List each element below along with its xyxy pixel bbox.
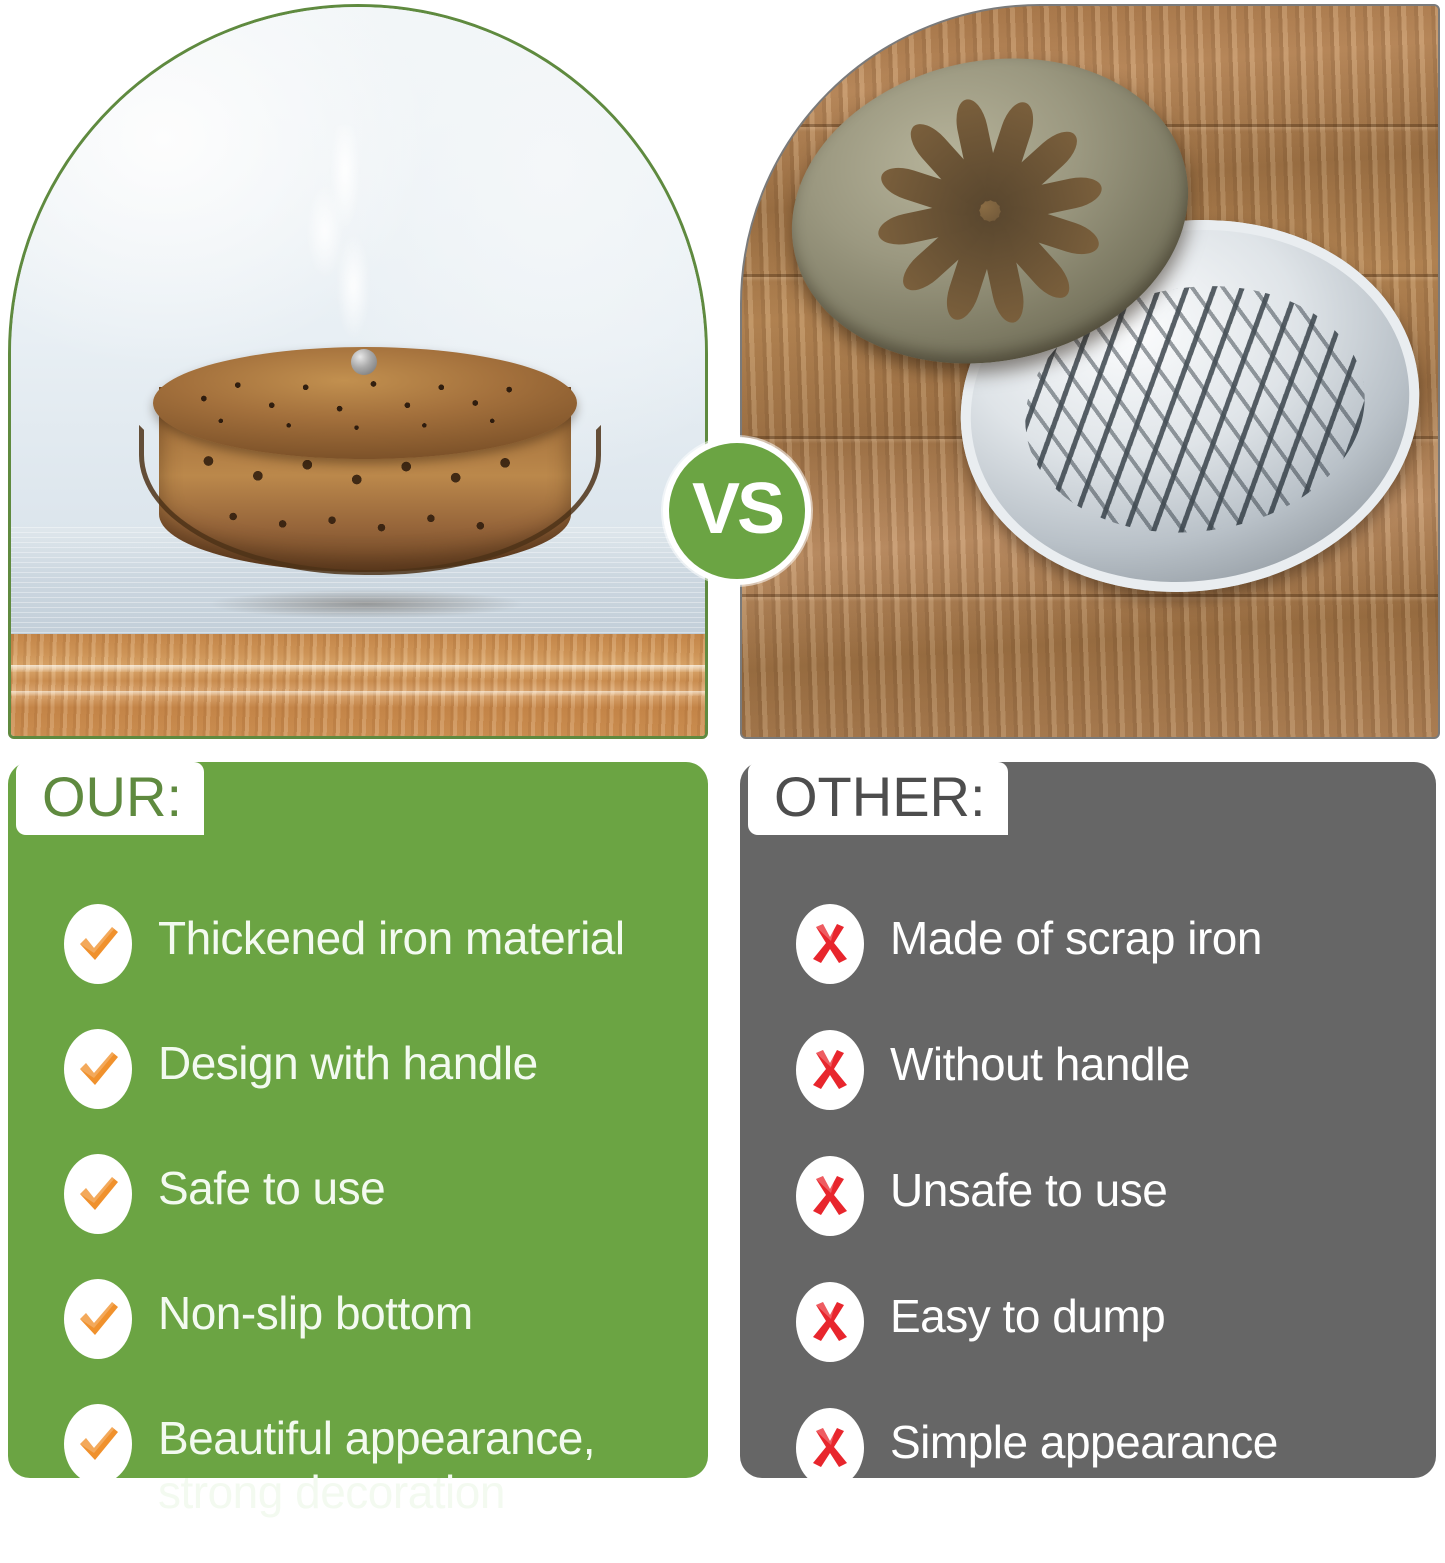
- other-panel-tag: OTHER:: [748, 762, 1008, 835]
- other-feature-item: Easy to dump: [796, 1280, 1418, 1362]
- our-panel-tag: OUR:: [16, 762, 204, 835]
- holder-shadow: [141, 583, 591, 625]
- our-product-photo: [8, 4, 708, 739]
- other-feature-item: Made of scrap iron: [796, 902, 1418, 984]
- other-feature-item-label: Without handle: [890, 1028, 1190, 1091]
- comparison-photo-row: VS: [0, 0, 1445, 745]
- our-feature-item: Non-slip bottom: [64, 1277, 690, 1359]
- other-feature-item: Unsafe to use: [796, 1154, 1418, 1236]
- other-panel: OTHER: Made of scrap ironWithout handleU…: [740, 762, 1436, 1478]
- other-feature-item-label: Simple appearance: [890, 1406, 1278, 1469]
- our-feature-item-label: Non-slip bottom: [158, 1277, 473, 1340]
- check-icon: [64, 1404, 132, 1484]
- our-feature-list: Thickened iron materialDesign with handl…: [64, 902, 690, 1563]
- our-feature-item: Design with handle: [64, 1027, 690, 1109]
- cross-icon: [796, 904, 864, 984]
- our-feature-item-label: Beautiful appearance, strong decoration: [158, 1402, 595, 1520]
- cross-icon: [796, 1156, 864, 1236]
- other-feature-item-label: Unsafe to use: [890, 1154, 1167, 1217]
- check-icon: [64, 904, 132, 984]
- vs-label: VS: [692, 473, 782, 545]
- other-feature-item-label: Easy to dump: [890, 1280, 1165, 1343]
- other-feature-list: Made of scrap ironWithout handleUnsafe t…: [796, 902, 1418, 1532]
- our-feature-item: Beautiful appearance, strong decoration: [64, 1402, 690, 1520]
- our-feature-item: Thickened iron material: [64, 902, 690, 984]
- our-feature-item-label: Thickened iron material: [158, 902, 625, 965]
- other-feature-item: Simple appearance: [796, 1406, 1418, 1488]
- cross-icon: [796, 1408, 864, 1488]
- cross-icon: [796, 1282, 864, 1362]
- wood-floor-strip: [11, 634, 705, 736]
- bronze-coil-holder: [129, 329, 599, 619]
- smoke-wisp: [279, 125, 399, 355]
- holder-knob: [351, 349, 377, 375]
- our-feature-item-label: Safe to use: [158, 1152, 385, 1215]
- check-icon: [64, 1279, 132, 1359]
- other-feature-item-label: Made of scrap iron: [890, 902, 1262, 965]
- our-feature-item: Safe to use: [64, 1152, 690, 1234]
- vs-badge: VS: [663, 437, 811, 585]
- our-panel: OUR: Thickened iron materialDesign with …: [8, 762, 708, 1478]
- other-feature-item: Without handle: [796, 1028, 1418, 1110]
- our-panel-tag-label: OUR:: [42, 768, 182, 827]
- other-product-photo: [740, 4, 1440, 739]
- our-feature-item-label: Design with handle: [158, 1027, 538, 1090]
- wood-grain-line: [742, 594, 1438, 597]
- check-icon: [64, 1154, 132, 1234]
- cross-icon: [796, 1030, 864, 1110]
- check-icon: [64, 1029, 132, 1109]
- other-panel-tag-label: OTHER:: [774, 768, 986, 827]
